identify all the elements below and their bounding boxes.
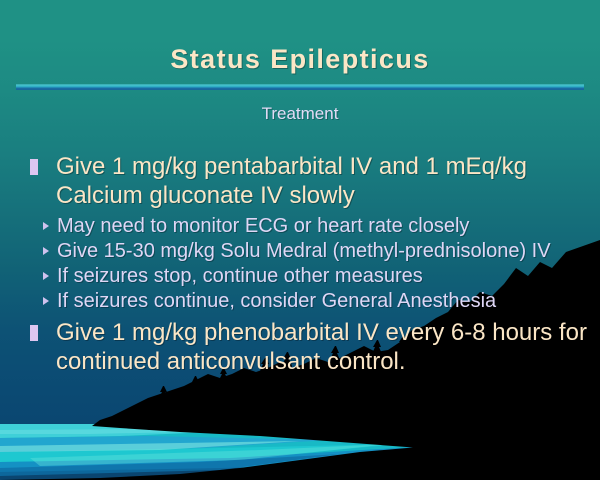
triangle-bullet-icon [43, 272, 49, 280]
bullet-text: If seizures stop, continue other measure… [57, 265, 423, 287]
bullet-item-level2: If seizures continue, consider General A… [0, 289, 600, 314]
slide-title: Status Epilepticus [0, 44, 600, 74]
square-bullet-icon [30, 325, 38, 341]
bullet-text: If seizures continue, consider General A… [57, 290, 496, 312]
bullet-text: Give 15-30 mg/kg Solu Medral (methyl-pre… [57, 240, 551, 262]
bullet-text: Give 1 mg/kg phenobarbital IV every 6-8 … [56, 319, 587, 375]
slide-body-content: Give 1 mg/kg pentabarbital IV and 1 mEq/… [0, 152, 600, 376]
bullet-item-level1: Give 1 mg/kg phenobarbital IV every 6-8 … [0, 318, 600, 376]
bullet-text: Give 1 mg/kg pentabarbital IV and 1 mEq/… [56, 153, 527, 209]
bullet-text: May need to monitor ECG or heart rate cl… [57, 215, 469, 237]
slide-subtitle: Treatment [0, 103, 600, 125]
bullet-item-level2: Give 15-30 mg/kg Solu Medral (methyl-pre… [0, 239, 600, 264]
bullet-item-level2: If seizures stop, continue other measure… [0, 264, 600, 289]
presentation-slide: Status Epilepticus Treatment Give 1 mg/k… [0, 0, 600, 480]
triangle-bullet-icon [43, 297, 49, 305]
square-bullet-icon [30, 159, 38, 175]
triangle-bullet-icon [43, 222, 49, 230]
bullet-item-level1: Give 1 mg/kg pentabarbital IV and 1 mEq/… [0, 152, 600, 210]
bullet-item-level2: May need to monitor ECG or heart rate cl… [0, 214, 600, 239]
title-divider-rule [16, 84, 584, 90]
triangle-bullet-icon [43, 247, 49, 255]
